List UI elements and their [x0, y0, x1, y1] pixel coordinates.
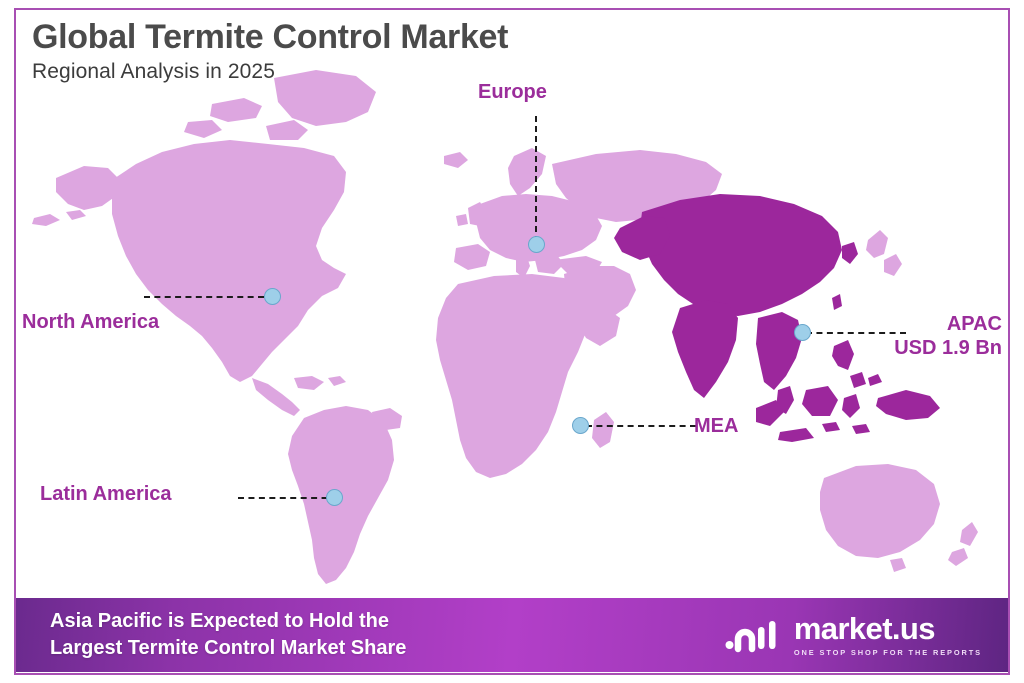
market-us-logo-icon — [724, 615, 784, 655]
page-subtitle: Regional Analysis in 2025 — [32, 60, 508, 84]
marker-latin-america[interactable] — [326, 489, 343, 506]
region-label-latin-america-text: Latin America — [40, 483, 172, 505]
connector-europe — [535, 116, 537, 242]
world-map-svg — [16, 60, 1008, 600]
world-map-container — [16, 60, 1008, 600]
marker-apac[interactable] — [794, 324, 811, 341]
connector-apac — [806, 332, 906, 334]
brand-tagline: ONE STOP SHOP FOR THE REPORTS — [794, 648, 982, 657]
marker-north-america[interactable] — [264, 288, 281, 305]
footer-headline: Asia Pacific is Expected to Hold the Lar… — [50, 608, 406, 662]
region-label-apac-text: APAC — [894, 312, 1002, 336]
connector-mea — [586, 425, 696, 427]
infographic-root: Global Termite Control Market Regional A… — [0, 0, 1024, 683]
brand-text: market.us ONE STOP SHOP FOR THE REPORTS — [794, 613, 982, 657]
connector-latin-america — [238, 497, 338, 499]
region-label-latin-america: Latin America — [40, 482, 172, 506]
region-label-north-america-text: North America — [22, 311, 159, 333]
footer-banner: Asia Pacific is Expected to Hold the Lar… — [16, 598, 1008, 672]
header: Global Termite Control Market Regional A… — [32, 18, 508, 84]
footer-headline-line2: Largest Termite Control Market Share — [50, 635, 406, 662]
region-value-apac: USD 1.9 Bn — [894, 336, 1002, 360]
brand-name: market.us — [794, 613, 935, 644]
marker-europe[interactable] — [528, 236, 545, 253]
marker-mea[interactable] — [572, 417, 589, 434]
region-label-europe: Europe — [478, 80, 547, 104]
map-region-base — [32, 70, 978, 584]
region-label-mea: MEA — [694, 414, 738, 438]
region-label-europe-text: Europe — [478, 81, 547, 103]
region-label-north-america: North America — [22, 310, 159, 334]
region-label-mea-text: MEA — [694, 415, 738, 437]
footer-headline-line1: Asia Pacific is Expected to Hold the — [50, 608, 406, 635]
connector-north-america — [144, 296, 264, 298]
page-title: Global Termite Control Market — [32, 18, 508, 56]
region-label-apac: APAC USD 1.9 Bn — [894, 312, 1002, 361]
map-region-apac-highlight — [614, 194, 940, 442]
brand-logo[interactable]: market.us ONE STOP SHOP FOR THE REPORTS — [724, 613, 982, 657]
